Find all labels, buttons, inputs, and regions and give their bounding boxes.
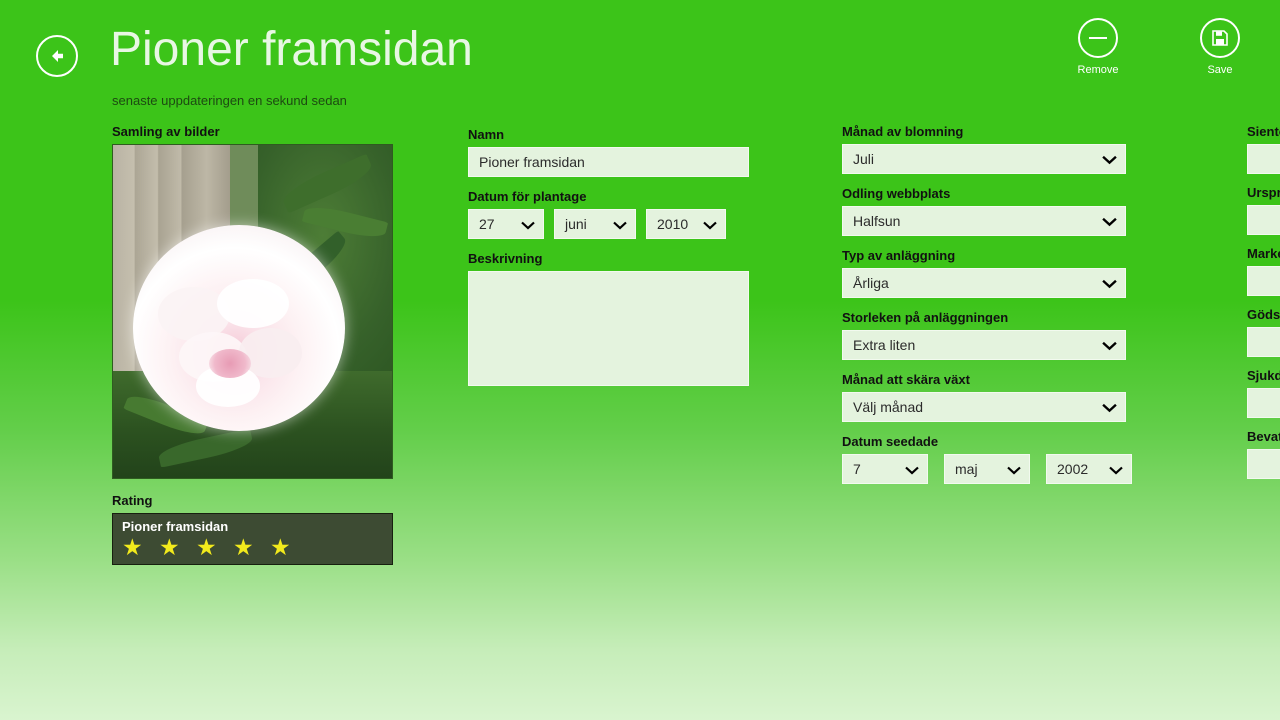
plant-size-group: Storleken på anläggningen Extra liten — [842, 310, 1132, 360]
plant-date-row: 27 juni 2010 — [468, 209, 753, 239]
extra-field-1-label: Siento — [1247, 124, 1280, 139]
plant-type-select[interactable]: Årliga — [842, 268, 1126, 298]
seeded-date-month-value: maj — [955, 461, 978, 477]
seeded-date-month-select[interactable]: maj — [944, 454, 1030, 484]
extra-field-6-input[interactable] — [1247, 449, 1280, 479]
bloom-month-label: Månad av blomning — [842, 124, 1132, 139]
extra-field-3-input[interactable] — [1247, 266, 1280, 296]
extra-field-1-group: Siento — [1247, 124, 1280, 174]
extra-field-3-label: Markera — [1247, 246, 1280, 261]
remove-button-label: Remove — [1056, 64, 1140, 76]
bloom-month-group: Månad av blomning Juli — [842, 124, 1132, 174]
details-column: Namn Pioner framsidan Datum för plantage… — [468, 127, 753, 398]
app-bar: Remove Save — [1056, 18, 1262, 76]
plant-date-year-value: 2010 — [657, 216, 688, 232]
chevron-down-icon — [1102, 393, 1117, 422]
remove-button-circle — [1078, 18, 1118, 58]
description-label: Beskrivning — [468, 251, 753, 266]
plant-type-value: Årliga — [853, 275, 889, 291]
name-field-group: Namn Pioner framsidan — [468, 127, 753, 177]
prune-month-select[interactable]: Välj månad — [842, 392, 1126, 422]
plant-date-month-select[interactable]: juni — [554, 209, 636, 239]
plant-date-day-value: 27 — [479, 216, 495, 232]
extra-field-2-label: Ursprung — [1247, 185, 1280, 200]
extra-field-4-input[interactable] — [1247, 327, 1280, 357]
growing-site-label: Odling webbplats — [842, 186, 1132, 201]
extra-field-2-input[interactable] — [1247, 205, 1280, 235]
extra-field-2-group: Ursprung — [1247, 185, 1280, 235]
seeded-date-label: Datum seedade — [842, 434, 1132, 449]
extra-field-4-group: Gödsel — [1247, 307, 1280, 357]
growing-site-group: Odling webbplats Halfsun — [842, 186, 1132, 236]
seeded-date-year-select[interactable]: 2002 — [1046, 454, 1132, 484]
prune-month-value: Välj månad — [853, 399, 923, 415]
plant-date-label: Datum för plantage — [468, 189, 753, 204]
plant-type-group: Typ av anläggning Årliga — [842, 248, 1132, 298]
chevron-down-icon — [1102, 145, 1117, 174]
extra-field-5-input[interactable] — [1247, 388, 1280, 418]
extra-field-3-group: Markera — [1247, 246, 1280, 296]
extra-field-5-group: Sjukdom — [1247, 368, 1280, 418]
pictures-label: Samling av bilder — [112, 124, 402, 139]
rating-tile[interactable]: Pioner framsidan ★ ★ ★ ★ ★ — [112, 513, 393, 565]
page-header: Pioner framsidan senaste uppdateringen e… — [0, 0, 1280, 120]
back-arrow-icon — [38, 46, 76, 66]
bloom-month-value: Juli — [853, 151, 874, 167]
rating-tile-title: Pioner framsidan — [122, 519, 392, 534]
chevron-down-icon — [1007, 455, 1021, 484]
rating-stars[interactable]: ★ ★ ★ ★ ★ — [122, 535, 392, 559]
prune-month-group: Månad att skära växt Välj månad — [842, 372, 1132, 422]
chevron-down-icon — [1102, 269, 1117, 298]
rating-label: Rating — [112, 493, 402, 508]
extra-field-6-group: Bevattning — [1247, 429, 1280, 479]
chevron-down-icon — [1102, 331, 1117, 360]
pictures-column: Samling av bilder Rating Pioner framsida… — [112, 124, 402, 565]
chevron-down-icon — [905, 455, 919, 484]
seeded-date-group: Datum seedade 7 maj 2002 — [842, 434, 1132, 484]
description-textarea[interactable] — [468, 271, 749, 386]
prune-month-label: Månad att skära växt — [842, 372, 1132, 387]
plant-size-select[interactable]: Extra liten — [842, 330, 1126, 360]
chevron-down-icon — [521, 210, 535, 239]
chevron-down-icon — [1102, 207, 1117, 236]
seeded-date-year-value: 2002 — [1057, 461, 1088, 477]
plant-date-day-select[interactable]: 27 — [468, 209, 544, 239]
extra-field-1-input[interactable] — [1247, 144, 1280, 174]
save-button[interactable]: Save — [1178, 18, 1262, 76]
page-subtitle: senaste uppdateringen en sekund sedan — [112, 93, 347, 108]
chevron-down-icon — [703, 210, 717, 239]
photo-peony-bloom — [133, 225, 345, 431]
plant-size-value: Extra liten — [853, 337, 915, 353]
chevron-down-icon — [1109, 455, 1123, 484]
photo-bloom-center — [209, 349, 251, 378]
plant-date-month-value: juni — [565, 216, 587, 232]
attributes-column: Månad av blomning Juli Odling webbplats … — [842, 124, 1132, 496]
save-button-label: Save — [1178, 64, 1262, 76]
remove-button[interactable]: Remove — [1056, 18, 1140, 76]
photo-petal — [217, 279, 289, 329]
extra-field-5-label: Sjukdom — [1247, 368, 1280, 383]
plant-date-year-select[interactable]: 2010 — [646, 209, 726, 239]
growing-site-value: Halfsun — [853, 213, 900, 229]
extra-field-4-label: Gödsel — [1247, 307, 1280, 322]
seeded-date-day-select[interactable]: 7 — [842, 454, 928, 484]
growing-site-select[interactable]: Halfsun — [842, 206, 1126, 236]
extra-field-6-label: Bevattning — [1247, 429, 1280, 444]
plant-type-label: Typ av anläggning — [842, 248, 1132, 263]
name-label: Namn — [468, 127, 753, 142]
seeded-date-row: 7 maj 2002 — [842, 454, 1132, 484]
name-input[interactable]: Pioner framsidan — [468, 147, 749, 177]
back-button[interactable] — [36, 35, 78, 77]
floppy-disk-icon — [1202, 29, 1238, 47]
description-group: Beskrivning — [468, 251, 753, 386]
page-title: Pioner framsidan — [110, 22, 473, 77]
bloom-month-select[interactable]: Juli — [842, 144, 1126, 174]
minus-icon — [1089, 37, 1107, 39]
plant-size-label: Storleken på anläggningen — [842, 310, 1132, 325]
seeded-date-day-value: 7 — [853, 461, 861, 477]
save-button-circle — [1200, 18, 1240, 58]
photo-thumbnail[interactable] — [112, 144, 393, 479]
chevron-down-icon — [613, 210, 627, 239]
plant-date-group: Datum för plantage 27 juni 2010 — [468, 189, 753, 239]
extra-fields-column: Siento Ursprung Markera Gödsel Sjukdom B… — [1247, 124, 1280, 490]
